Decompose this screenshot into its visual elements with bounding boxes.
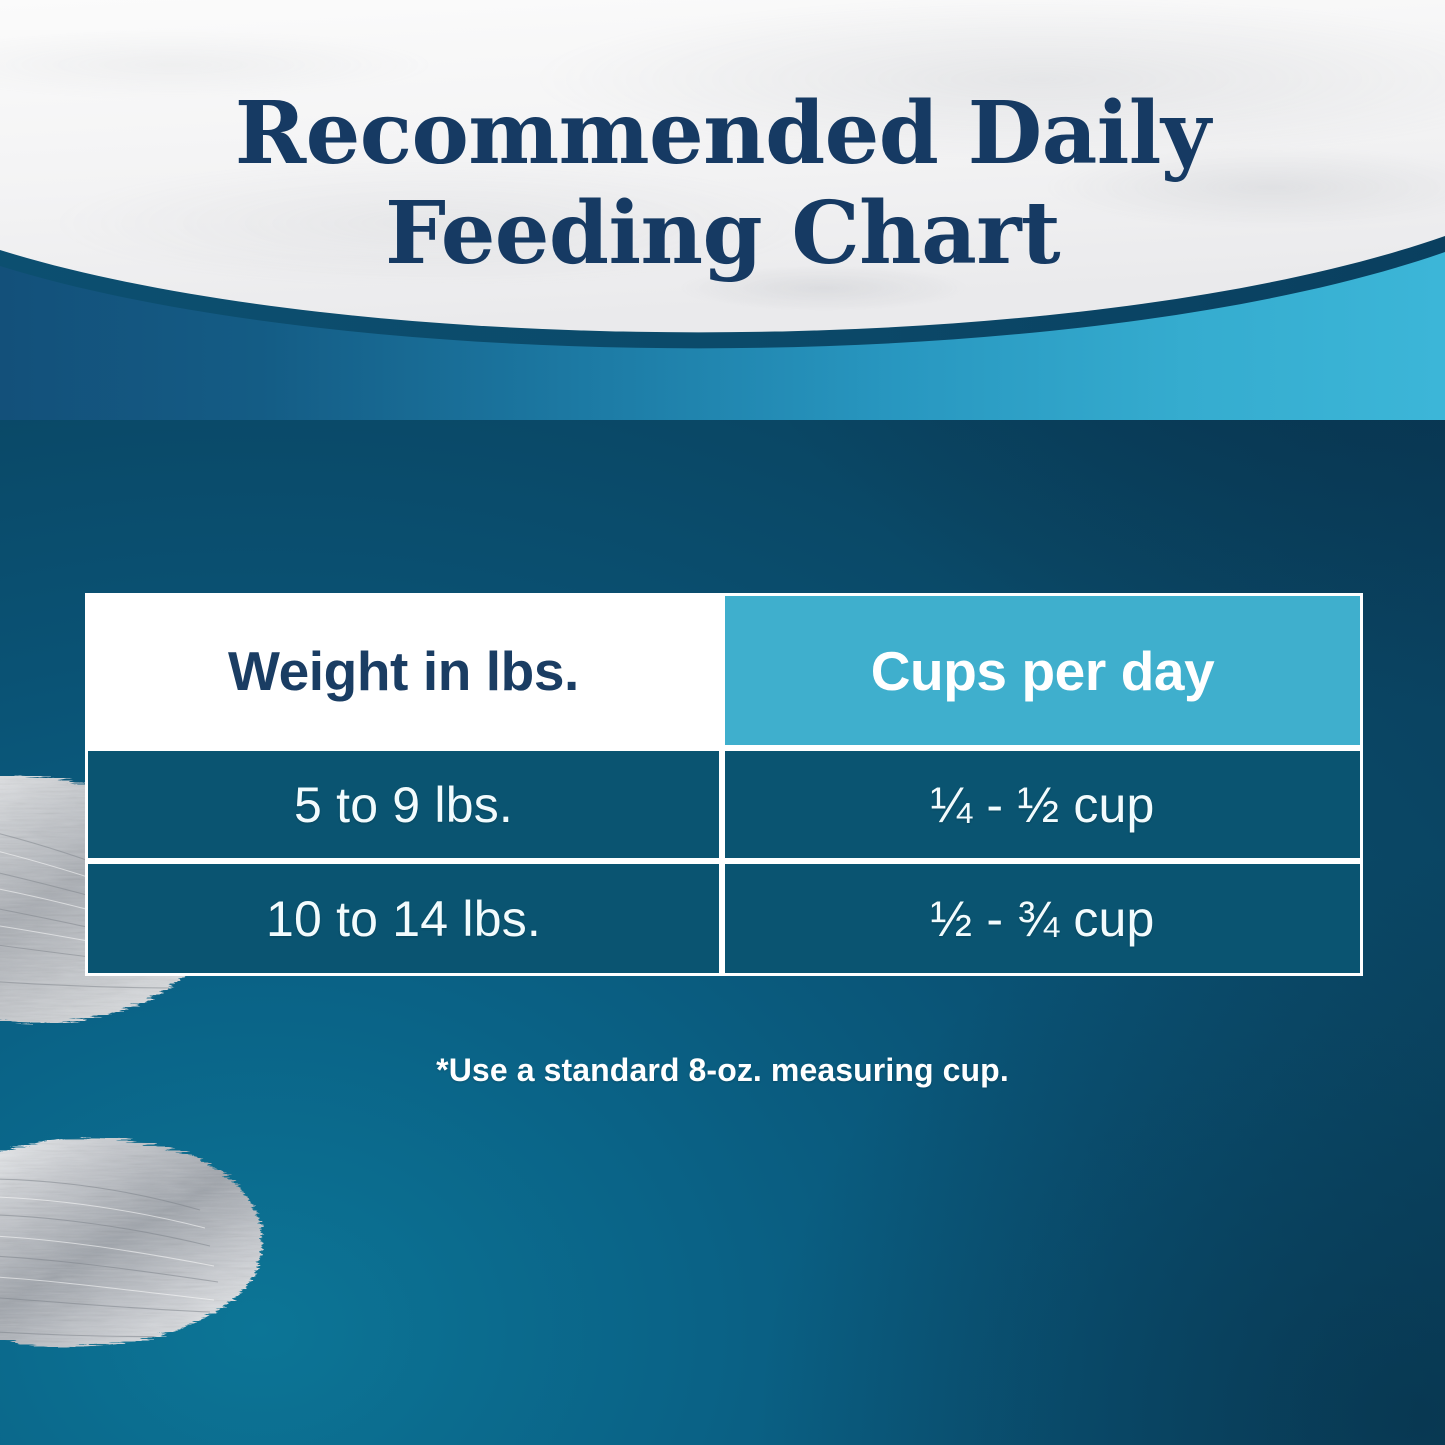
table-row: ½ - ¾ cup [722, 861, 1363, 976]
table-row: 10 to 14 lbs. [85, 861, 722, 976]
cell-weight-row-1: 5 to 9 lbs. [294, 776, 513, 834]
table-header-weight-label: Weight in lbs. [228, 639, 579, 703]
cat-paw-lower [0, 1110, 340, 1390]
cell-cups-row-2: ½ - ¾ cup [930, 890, 1154, 948]
page-title-line-2: Feeding Chart [0, 184, 1445, 284]
table-header-cups-label: Cups per day [871, 639, 1215, 703]
cell-cups-row-1: ¼ - ½ cup [930, 776, 1154, 834]
feeding-chart-page: Recommended Daily Feeding Chart [0, 0, 1445, 1445]
page-title: Recommended Daily Feeding Chart [0, 84, 1445, 284]
cell-weight-row-2: 10 to 14 lbs. [266, 890, 541, 948]
page-title-line-1: Recommended Daily [0, 84, 1445, 184]
table-row: 5 to 9 lbs. [85, 748, 722, 861]
table-row: ¼ - ½ cup [722, 748, 1363, 861]
table-header-weight: Weight in lbs. [85, 593, 722, 748]
table-header-cups: Cups per day [722, 593, 1363, 748]
measuring-cup-footnote: *Use a standard 8-oz. measuring cup. [0, 1052, 1445, 1089]
feeding-chart-table: Weight in lbs. Cups per day 5 to 9 lbs. … [85, 593, 1363, 976]
